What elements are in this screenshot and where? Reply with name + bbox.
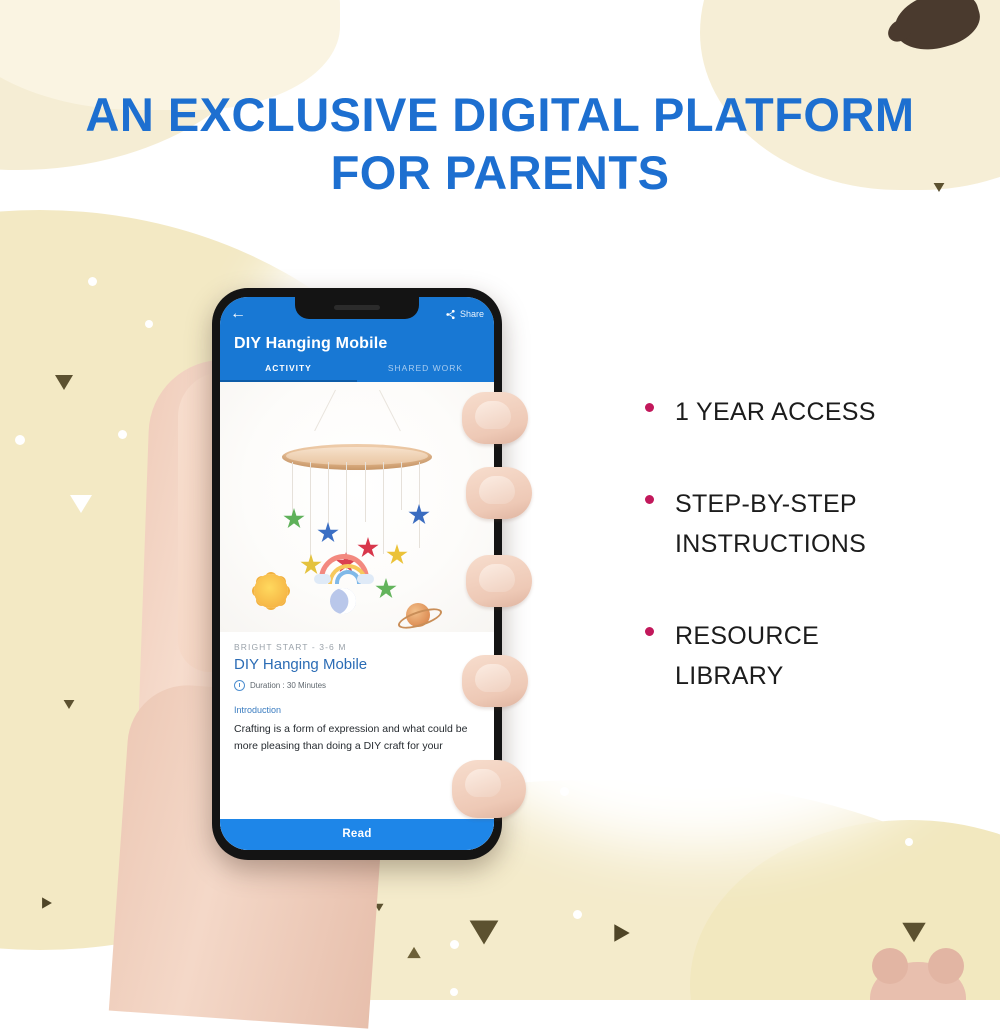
moon-charm-icon (326, 584, 359, 617)
confetti-dot (145, 320, 153, 328)
headline-line-1: AN EXCLUSIVE DIGITAL PLATFORM (85, 88, 914, 141)
star-charm-icon (317, 522, 339, 544)
tab-bar: ACTIVITY SHARED WORK (220, 363, 494, 382)
tab-shared-work[interactable]: SHARED WORK (357, 363, 494, 382)
clock-icon (234, 680, 245, 691)
confetti-dot (560, 787, 569, 796)
confetti-triangle-icon (470, 921, 499, 945)
page-title: AN EXCLUSIVE DIGITAL PLATFORM FOR PARENT… (0, 86, 1000, 202)
headline-line-2: FOR PARENTS (0, 144, 1000, 202)
star-charm-icon (357, 537, 379, 559)
mobile-hoop-icon (282, 444, 432, 470)
fingertip (452, 760, 526, 818)
fingertip (466, 555, 532, 607)
share-icon (445, 309, 456, 320)
activity-title: DIY Hanging Mobile (234, 656, 480, 673)
activity-age-band: BRIGHT START - 3-6 M (234, 642, 480, 652)
bullet-dot-icon (645, 627, 654, 636)
confetti-dot (450, 988, 458, 996)
phone-screen: ← Share DIY Hanging Mobile ACTIVITY (220, 297, 494, 850)
confetti-triangle-icon (55, 375, 73, 390)
bunny-illustration-icon (870, 962, 966, 1000)
bullet-dot-icon (645, 495, 654, 504)
confetti-triangle-icon (42, 897, 52, 908)
feature-label: STEP-BY-STEP INSTRUCTIONS (675, 484, 866, 564)
confetti-triangle-icon (902, 923, 925, 943)
phone-notch (295, 297, 419, 319)
activity-duration: Duration : 30 Minutes (234, 680, 480, 691)
confetti-dot (450, 940, 459, 949)
confetti-dot (905, 838, 913, 846)
mobile-string (292, 462, 293, 514)
read-button[interactable]: Read (220, 819, 494, 850)
fingertip (462, 655, 528, 707)
fingertip (466, 467, 532, 519)
fingertip (462, 392, 528, 444)
confetti-dot (88, 277, 97, 286)
planet-charm-icon (406, 603, 430, 627)
share-button[interactable]: Share (445, 309, 484, 320)
cloud-charm-icon (314, 574, 331, 584)
confetti-dot (118, 430, 127, 439)
mobile-string (383, 462, 384, 554)
confetti-dot (15, 435, 25, 445)
feature-item-access: 1 YEAR ACCESS (645, 392, 975, 432)
mobile-string (310, 462, 311, 560)
activity-card: BRIGHT START - 3-6 M DIY Hanging Mobile … (220, 632, 494, 755)
back-arrow-icon[interactable]: ← (230, 306, 246, 322)
feature-item-instructions: STEP-BY-STEP INSTRUCTIONS (645, 484, 975, 564)
app-screen-title: DIY Hanging Mobile (220, 327, 494, 353)
mobile-string (365, 462, 366, 522)
earpiece-speaker-icon (334, 305, 380, 310)
activity-duration-label: Duration : 30 Minutes (250, 681, 326, 690)
confetti-dot (573, 910, 582, 919)
confetti-triangle-icon (614, 924, 629, 942)
star-charm-icon (386, 544, 408, 566)
confetti-triangle-icon (407, 947, 421, 958)
bullet-dot-icon (645, 403, 654, 412)
hanging-mobile-illustration (220, 382, 494, 632)
feature-label: RESOURCE LIBRARY (675, 616, 819, 696)
feature-list: 1 YEAR ACCESS STEP-BY-STEP INSTRUCTIONS … (645, 392, 975, 748)
mobile-hanger-icon (331, 390, 383, 434)
activity-hero-image (220, 382, 494, 632)
mobile-string (328, 462, 329, 532)
star-charm-icon (375, 578, 397, 600)
confetti-triangle-icon (70, 495, 92, 513)
cloud-charm-icon (357, 574, 374, 584)
introduction-heading: Introduction (234, 705, 480, 715)
confetti-triangle-icon (64, 700, 75, 709)
tab-activity[interactable]: ACTIVITY (220, 363, 357, 382)
introduction-body: Crafting is a form of expression and wha… (234, 721, 480, 755)
feature-label: 1 YEAR ACCESS (675, 392, 876, 432)
feature-item-library: RESOURCE LIBRARY (645, 616, 975, 696)
share-label: Share (460, 309, 484, 319)
sun-charm-icon (254, 574, 288, 608)
star-charm-icon (283, 508, 305, 530)
mobile-string (401, 462, 402, 510)
